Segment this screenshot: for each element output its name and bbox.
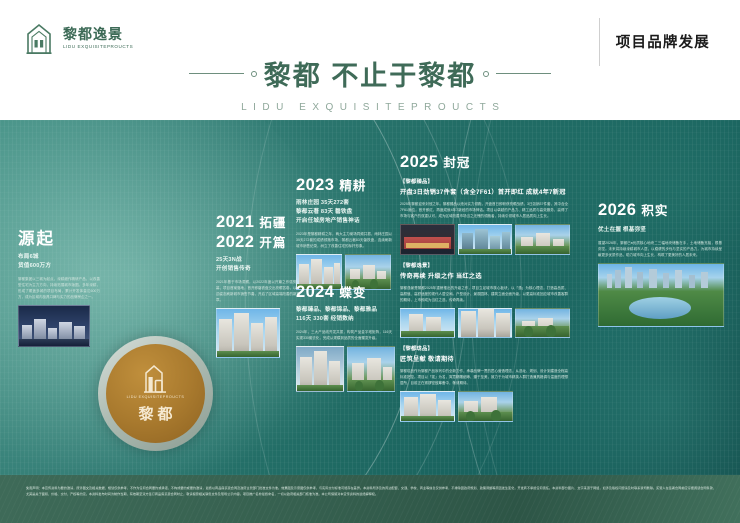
node-2024-photo-row (296, 346, 396, 392)
city-park-lake-photo (598, 263, 724, 327)
footer-texture (0, 475, 740, 523)
node-2025-block-3: 【黎都珑品】 匠筑呈献 敬请期待 黎都珑品作为黎都产品序列中的全新力作，承袭品牌… (400, 344, 570, 422)
showroom-night-photo (400, 224, 455, 255)
origin-photo-row (18, 305, 100, 347)
block-tagline: 传奇再续 升级之作 当红之选 (400, 271, 570, 280)
brand-name-cn: 黎都逸景 (63, 27, 133, 42)
section-title: 项目品牌发展 (616, 31, 710, 52)
origin-body: 黎都集团以三城为起点，深耕细作精研产品，以改善型住宅为主力方向，持续拓展城市版图… (18, 276, 100, 300)
block-photo-row (400, 224, 570, 255)
node-2024: 2024蝶变 黎都臻品、黎都锦品、黎都雅品 116天 330套 经销数纳 202… (296, 282, 396, 392)
node-2021-subtitle: 25天3N战 开创销售传奇 (216, 256, 300, 274)
node-origin: 源起 布局6城 货值600万方 黎都集团以三城为起点，深耕细作精研产品，以改善型… (18, 225, 100, 347)
night-residential-photo (18, 305, 90, 347)
node-2025-block-1: 【黎都臻品】 开盘3日劲销37件套（含全7F61）首开即红 成就4年7新冠 20… (400, 177, 570, 255)
center-medallion: LIDU EXQUISITEPROUCTS 黎都 (98, 336, 213, 451)
hero-rule-right (496, 73, 551, 74)
node-2023: 2023精耕 雨林庄园 35天272套 黎都云著 83天 罄铁盘 开启任城房地产… (296, 175, 396, 290)
block-photo-row (400, 308, 570, 338)
brand-logo: 黎都逸景 LIDU EXQUISITEPROUCTS (22, 22, 133, 56)
node-2025: 2025封冠 【黎都臻品】 开盘3日劲销37件套（含全7F61）首开即红 成就4… (400, 152, 570, 422)
tower-residential-photo (296, 346, 344, 392)
medallion-inner: LIDU EXQUISITEPROUCTS 黎都 (106, 344, 205, 443)
block-body: 黎都逸景是黎都2025年重磅推出的升级之作，项目立足城市核心板块，以「逸」为核心… (400, 285, 568, 303)
block-body: 黎都珑品作为黎都产品序列中的全新力作，承袭品牌一贯的匠心营造理念，从选址、规划、… (400, 368, 568, 386)
hero-subtitle: LIDU EXQUISITEPROUCTS (0, 102, 740, 113)
hero-block: 黎都 不止于黎都 LIDU EXQUISITEPROUCTS (0, 54, 740, 113)
year-2022: 2022开篇 (216, 232, 300, 252)
block-tag: 【黎都逸景】 (400, 261, 570, 269)
brand-logo-text: 黎都逸景 LIDU EXQUISITEPROUCTS (63, 27, 133, 51)
node-2026: 2026积实 优土在握 根基弥坚 展望2026年，黎都已в优质核心地块二三幅地块… (598, 200, 724, 327)
hero-dot-right-icon (483, 71, 489, 77)
blue-tower-photo (458, 224, 513, 255)
year-2024: 2024蝶变 (296, 282, 396, 302)
medallion-cn-text: 黎都 (134, 403, 176, 424)
block-tagline: 匠筑呈献 敬请期待 (400, 354, 570, 363)
node-2026-body: 展望2026年，黎都已в优质核心地块二三幅地块储备在手，土地储备充裕，根基弥坚。… (598, 240, 722, 258)
origin-title: 源起 (18, 225, 100, 249)
hero-rule-left (189, 73, 244, 74)
node-2021-photo-row (216, 308, 300, 358)
node-2024-body: 2024年，三大产品线齐发共振，构筑产品金字塔矩阵，116天实现330套去化，完… (296, 329, 392, 341)
year-2023: 2023精耕 (296, 175, 396, 195)
hero-title-row: 黎都 不止于黎都 (0, 54, 740, 93)
brand-name-en: LIDU EXQUISITEPROUCTS (63, 44, 133, 50)
city-residential-photo (515, 224, 570, 255)
node-2025-block-2: 【黎都逸景】 传奇再续 升级之作 当红之选 黎都逸景是黎都2025年重磅推出的升… (400, 261, 570, 338)
block-tag: 【黎都珑品】 (400, 344, 570, 352)
poster-header: 黎都逸景 LIDU EXQUISITEPROUCTS 项目品牌发展 黎都 不止于… (0, 0, 740, 120)
block-tag: 【黎都臻品】 (400, 177, 570, 185)
balcony-tower-photo (458, 391, 513, 422)
year-2021: 2021拓疆 (216, 212, 300, 232)
white-facade-photo (400, 391, 455, 422)
highrise-residential-photo (216, 308, 280, 358)
poster-footer: 免责声明：本宣传资料为要约邀请，所涉图文及相关数据、规划仅供参考，不作为任何合同… (0, 475, 740, 523)
node-2026-photo-row (598, 263, 724, 327)
brand-development-poster: 黎都逸景 LIDU EXQUISITEPROUCTS 项目品牌发展 黎都 不止于… (0, 0, 740, 523)
block-photo-row (400, 391, 570, 422)
block-body: 2025年黎都迎来封冠之年。黎都臻品以绝对实力领跑，开盘首日即斩获亮眼战绩，3日… (400, 201, 568, 219)
timeline-board: LIDU EXQUISITEPROUCTS 黎都 源起 布局6城 货值600万方… (0, 120, 740, 475)
node-2021-2022: 2021拓疆 2022开篇 25天3N战 开创销售传奇 2021年基于市场洞察，… (216, 212, 300, 358)
medallion-en-text: LIDU EXQUISITEPROUCTS (127, 395, 185, 399)
node-2026-subtitle: 优土在握 根基弥坚 (598, 226, 724, 235)
garden-residential-photo (515, 308, 570, 338)
hero-title: 黎都 不止于黎都 (264, 54, 477, 93)
year-2025: 2025封冠 (400, 152, 570, 172)
footer-disclaimer: 免责声明：本宣传资料为要约邀请，所涉图文及相关数据、规划仅供参考，不作为任何合同… (26, 485, 716, 497)
twin-tower-photo (400, 308, 455, 338)
origin-subtitle: 布局6城 货值600万方 (18, 253, 100, 271)
green-residential-photo (347, 346, 395, 392)
node-2024-subtitle: 黎都臻品、黎都锦品、黎都雅品 116天 330套 经销数纳 (296, 306, 396, 324)
node-2021-body: 2021年基于市场洞察，以2022年度以开篇之作强势启幕，项目首案落地，首开即罄… (216, 279, 300, 303)
node-2023-subtitle: 雨林庄园 35天272套 黎都云著 83天 罄铁盘 开启任城房地产销售神话 (296, 199, 396, 226)
year-2026: 2026积实 (598, 200, 724, 220)
building-logo-icon (22, 22, 56, 56)
node-2023-body: 2023年是黎都精耕之年，两大主力案场同频共振，雨林庄园以35天272套的成绩领… (296, 231, 392, 249)
block-tagline: 开盘3日劲销37件套（含全7F61）首开即红 成就4年7新冠 (400, 187, 570, 196)
hero-dot-left-icon (251, 71, 257, 77)
building-monogram-icon (139, 363, 173, 393)
facade-detail-photo (458, 308, 513, 338)
